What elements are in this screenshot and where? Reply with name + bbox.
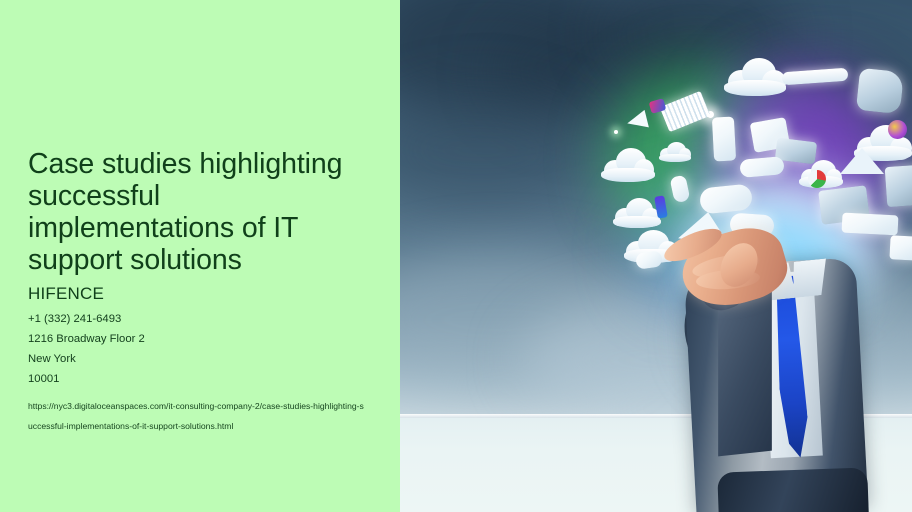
text-content-block: Case studies highlighting successful imp… [28, 148, 373, 436]
hero-image-panel [400, 0, 912, 512]
brand-name: HIFENCE [28, 283, 373, 304]
contact-postal-code: 10001 [28, 369, 373, 389]
businessman-figure [400, 0, 912, 512]
source-url-link[interactable]: https://nyc3.digitaloceanspaces.com/it-c… [28, 396, 368, 436]
contact-city: New York [28, 349, 373, 369]
left-text-panel: Case studies highlighting successful imp… [0, 0, 400, 512]
promotional-banner: Case studies highlighting successful imp… [0, 0, 912, 512]
page-title: Case studies highlighting successful imp… [28, 148, 373, 276]
trousers [717, 467, 869, 512]
contact-phone[interactable]: +1 (332) 241-6493 [28, 309, 373, 329]
contact-street-address: 1216 Broadway Floor 2 [28, 329, 373, 349]
